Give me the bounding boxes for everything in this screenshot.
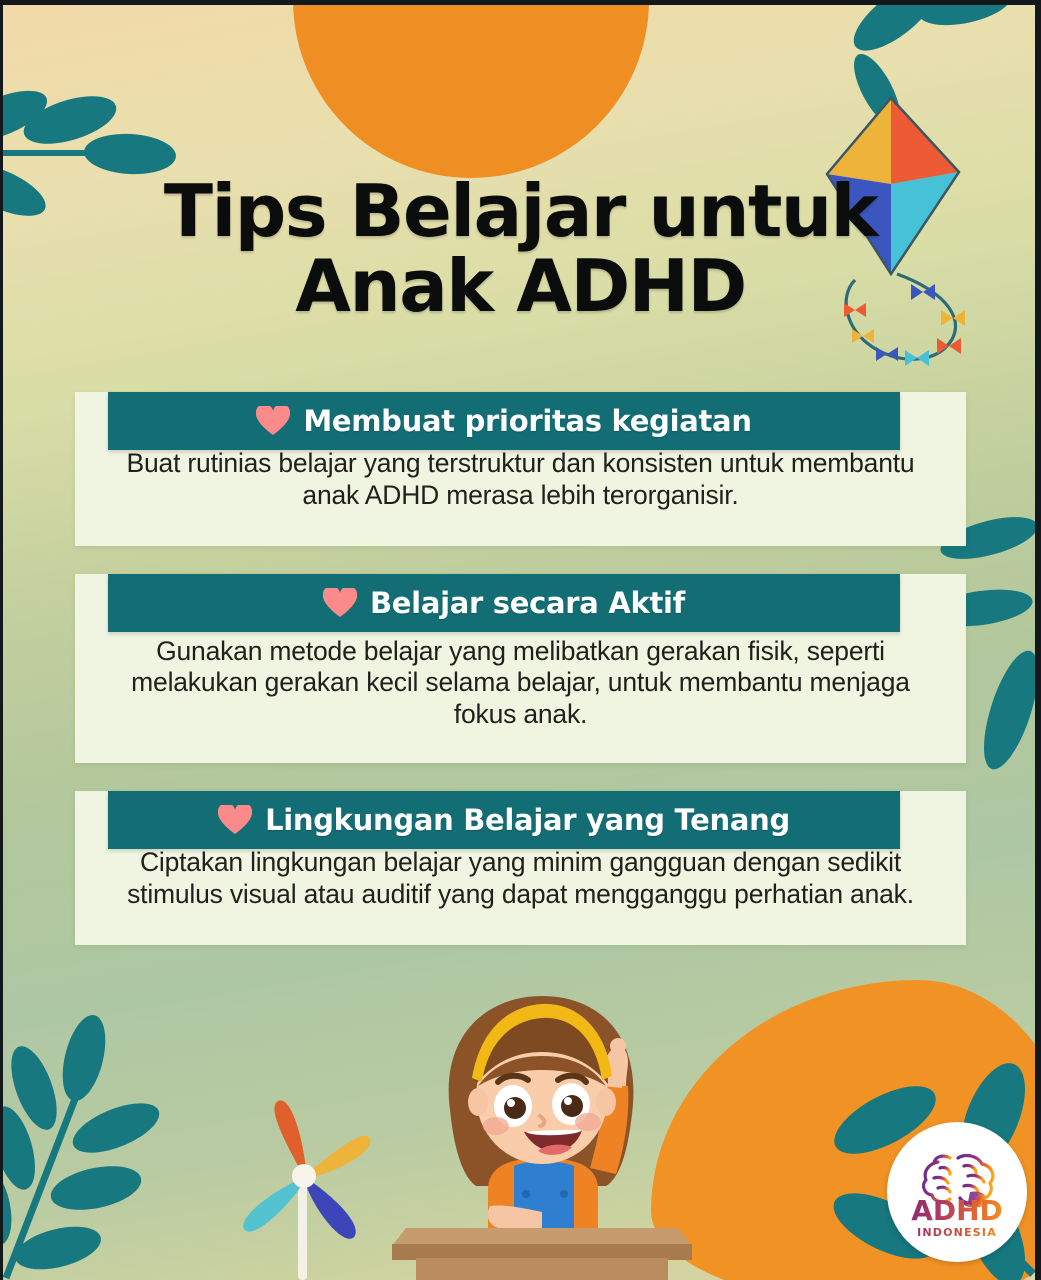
frame-edge-top <box>0 0 1041 5</box>
frame-edge-right <box>1035 0 1041 1280</box>
poster-title-line-1: Tips Belajar untuk <box>164 169 877 253</box>
heart-icon <box>218 805 252 835</box>
tip-card: Lingkungan Belajar yang Tenang Ciptakan … <box>0 791 1041 945</box>
tip-card-description: Buat rutinias belajar yang terstruktur d… <box>109 448 932 512</box>
tips-list: Membuat prioritas kegiatan Buat rutinias… <box>0 392 1041 973</box>
tip-card: Membuat prioritas kegiatan Buat rutinias… <box>0 392 1041 546</box>
orange-semicircle-decoration <box>293 0 649 178</box>
tip-card-description: Gunakan metode belajar yang melibatkan g… <box>109 636 932 731</box>
tip-card-heading: Lingkungan Belajar yang Tenang <box>265 803 790 837</box>
girl-raising-hand-illustration <box>392 990 692 1280</box>
poster-title: Tips Belajar untuk Anak ADHD <box>0 176 1041 321</box>
heart-icon <box>256 406 290 436</box>
tip-card-header: Membuat prioritas kegiatan <box>108 392 900 450</box>
tip-card-header: Belajar secara Aktif <box>108 574 900 632</box>
heart-icon <box>323 588 357 618</box>
logo-name: ADHD <box>911 1197 1003 1225</box>
leaf-branch-icon-bottom-left <box>0 1010 228 1280</box>
logo-subtitle: INDONESIA <box>917 1226 997 1239</box>
adhd-indonesia-logo: ADHD INDONESIA <box>887 1122 1027 1262</box>
tip-card-header: Lingkungan Belajar yang Tenang <box>108 791 900 849</box>
tip-card: Belajar secara Aktif Gunakan metode bela… <box>0 574 1041 763</box>
tip-card-description: Ciptakan lingkungan belajar yang minim g… <box>109 847 932 911</box>
frame-edge-left <box>0 0 3 1280</box>
tip-card-heading: Membuat prioritas kegiatan <box>303 404 751 438</box>
tip-card-heading: Belajar secara Aktif <box>370 586 685 620</box>
infographic-poster: Tips Belajar untuk Anak ADHD Membuat pri… <box>0 0 1041 1280</box>
pinwheel-icon <box>210 1085 400 1280</box>
poster-title-line-2: Anak ADHD <box>0 251 1041 322</box>
